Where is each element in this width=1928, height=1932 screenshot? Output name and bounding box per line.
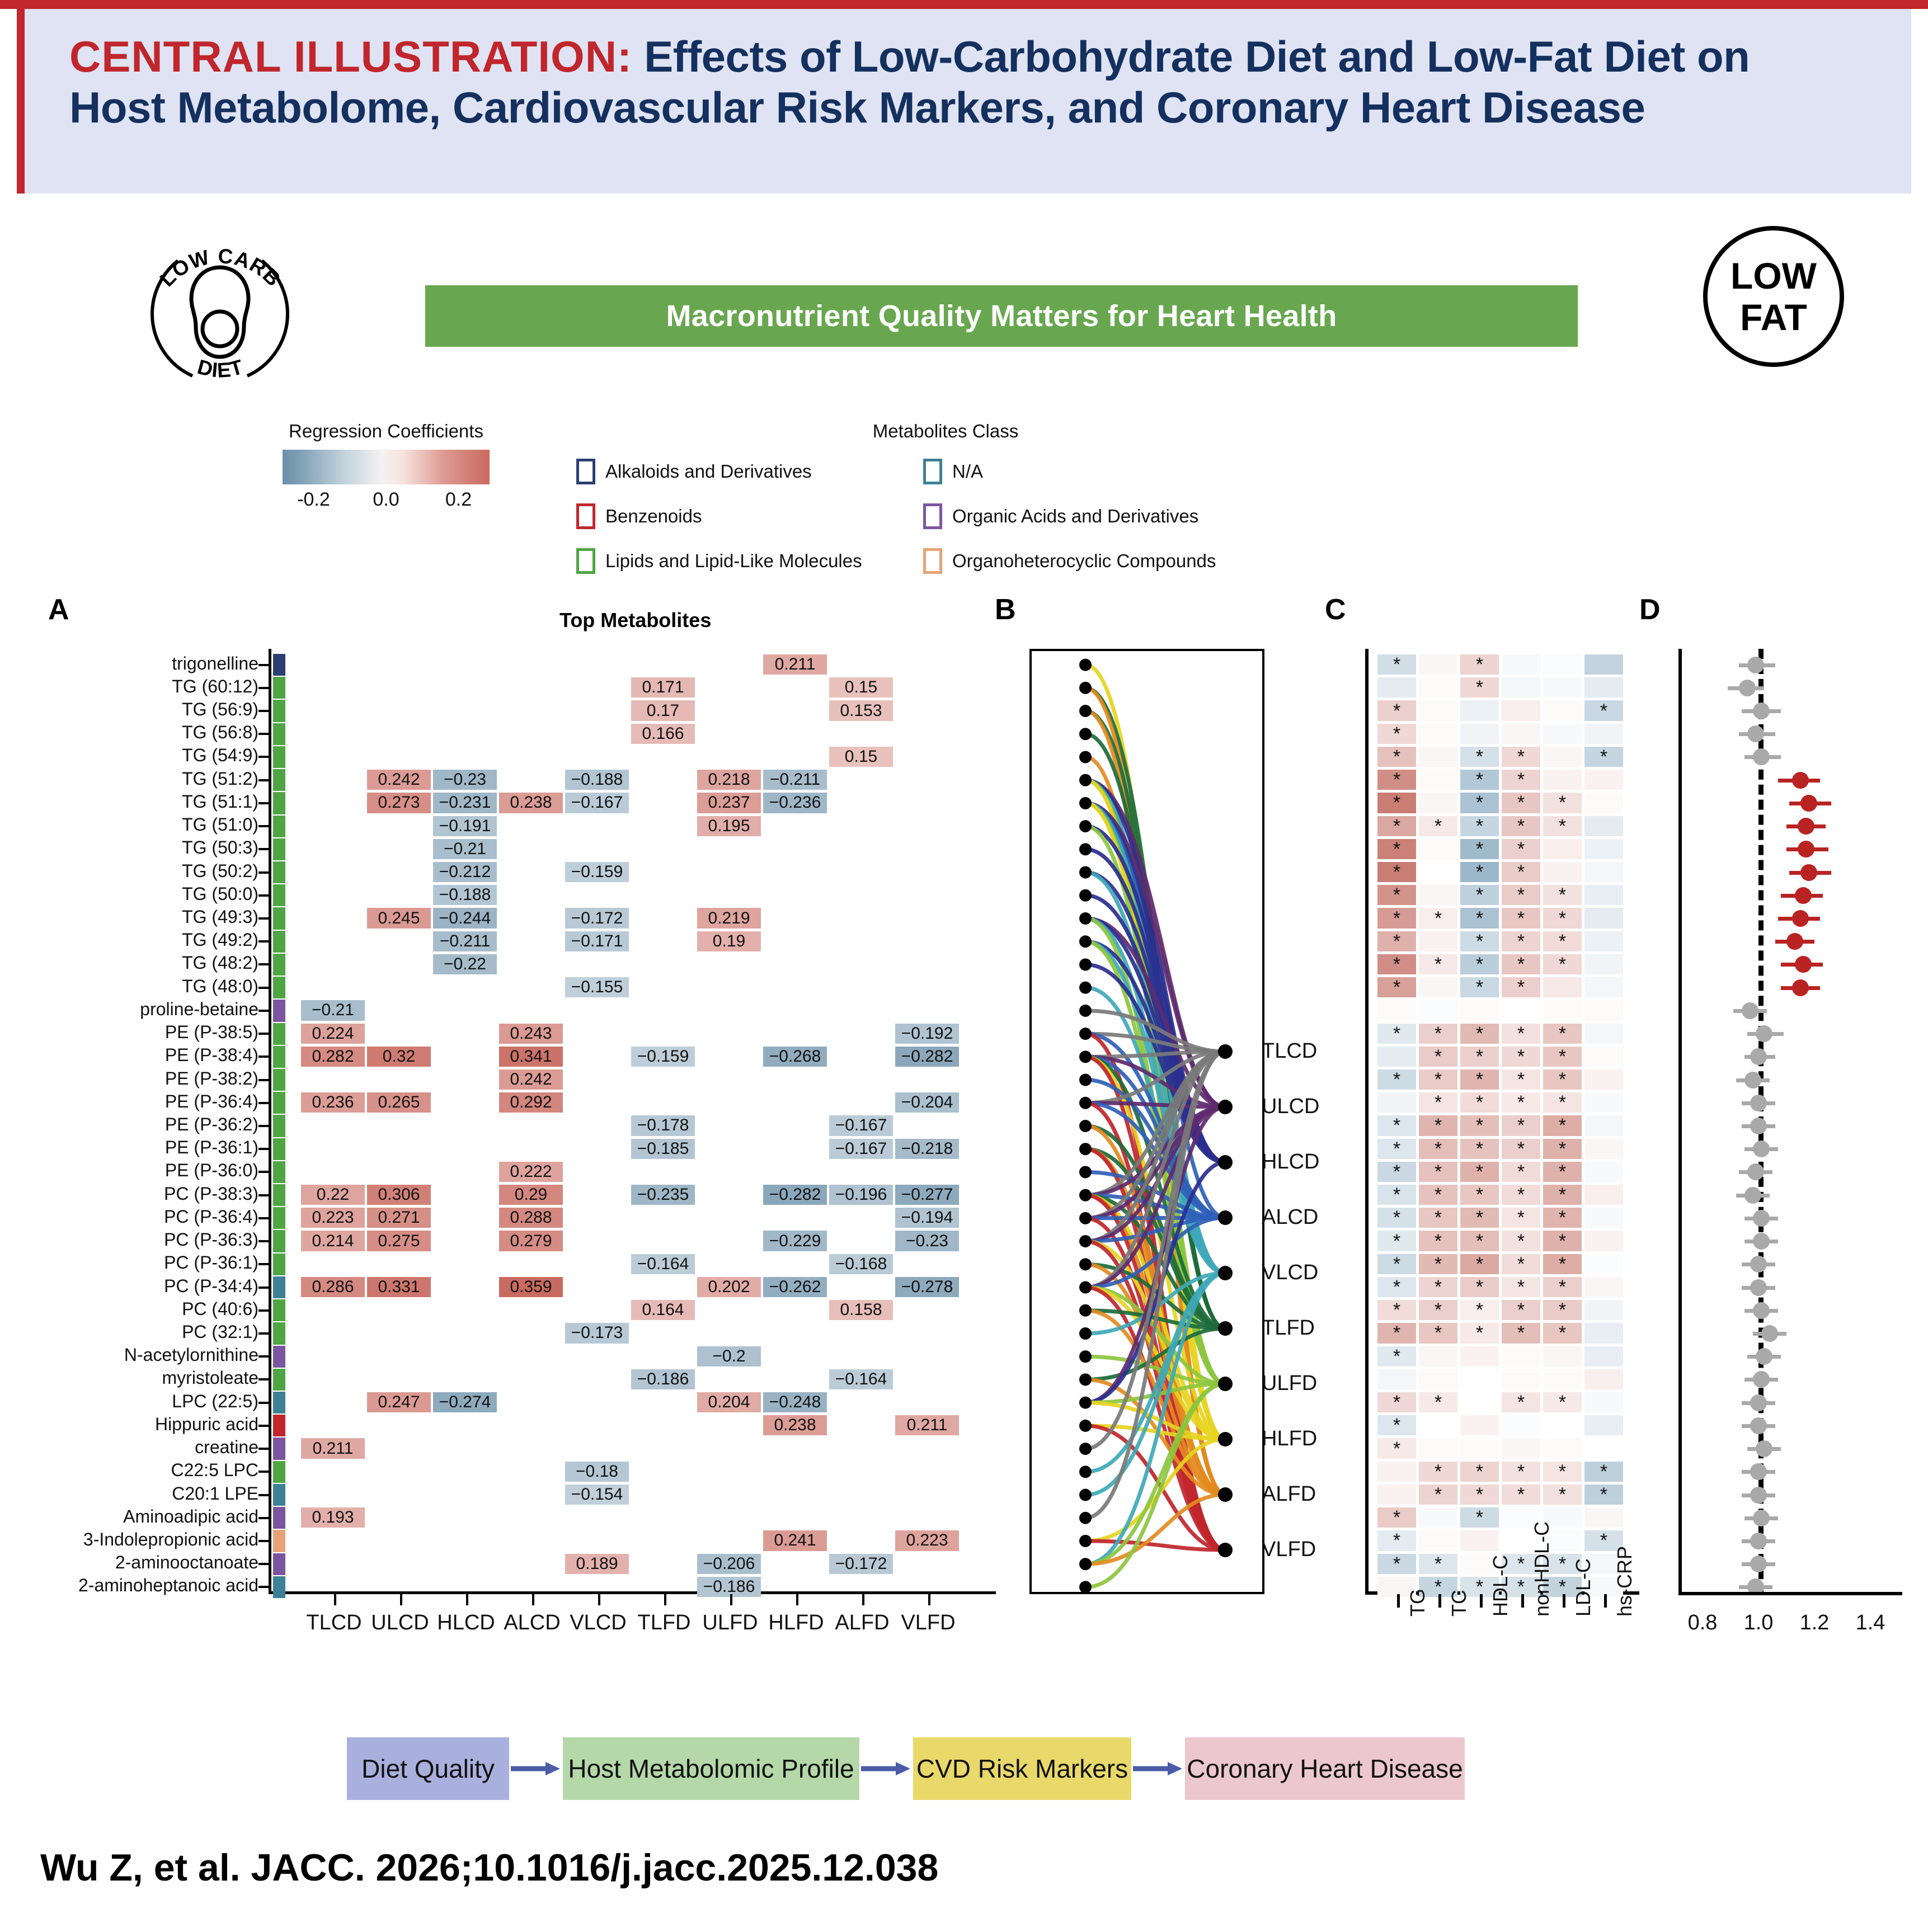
metabolite-node <box>1079 1005 1092 1017</box>
metabolite-node <box>1079 774 1092 786</box>
heatmap-cell: 0.22 <box>301 1185 365 1205</box>
class-legend-item: Alkaloids and Derivatives <box>576 459 923 484</box>
risk-marker-cell: * <box>1502 1047 1540 1067</box>
risk-marker-cell <box>1584 793 1623 813</box>
row-tick <box>258 733 269 735</box>
risk-marker-cell: * <box>1377 1438 1416 1458</box>
page-title: CENTRAL ILLUSTRATION: Effects of Low-Car… <box>69 31 1849 134</box>
risk-marker-cell: * <box>1460 1254 1499 1274</box>
row-tick <box>258 1355 269 1358</box>
risk-marker-cell <box>1419 1000 1457 1020</box>
hazard-ratio-point <box>1750 1556 1767 1572</box>
causal-pathway-flowchart: Diet QualityHost Metabolomic ProfileCVD … <box>347 1737 1650 1800</box>
hazard-ratio-point <box>1753 1371 1770 1388</box>
metabolite-class-bar <box>273 1530 285 1552</box>
column-tick <box>598 1594 600 1605</box>
heatmap-cell: −0.167 <box>829 1139 893 1159</box>
risk-marker-cell: * <box>1377 1392 1416 1412</box>
metabolite-node <box>1079 797 1092 809</box>
regression-coefficient-legend: Regression Coefficients -0.20.00.2 <box>269 421 504 512</box>
central-illustration-figure: CENTRAL ILLUSTRATION: Effects of Low-Car… <box>0 0 1928 1932</box>
heatmap-cell: −0.194 <box>895 1208 959 1228</box>
panel-c-risk-marker-heatmap: ****************************************… <box>1365 649 1639 1594</box>
risk-marker-cell: * <box>1460 885 1499 905</box>
heatmap-cell: −0.277 <box>895 1185 959 1205</box>
risk-marker-cell: * <box>1584 1462 1623 1482</box>
hazard-ratio-point <box>1753 1210 1770 1227</box>
risk-marker-cell <box>1584 1069 1623 1090</box>
risk-marker-cell: * <box>1419 1208 1457 1228</box>
risk-marker-cell: * <box>1460 1115 1499 1135</box>
hazard-ratio-point <box>1756 1440 1772 1457</box>
class-legend-title: Metabolites Class <box>744 421 1147 442</box>
risk-marker-cell: * <box>1377 908 1416 928</box>
metabolite-class-bar <box>273 1092 285 1114</box>
heatmap-cell: 0.241 <box>763 1530 827 1551</box>
hazard-ratio-point <box>1744 1072 1761 1088</box>
risk-column-tick <box>1480 1594 1483 1608</box>
risk-marker-cell: * <box>1460 1092 1499 1113</box>
metabolite-class-bar <box>273 1276 285 1298</box>
risk-marker-cell: * <box>1502 1277 1540 1297</box>
risk-marker-cell <box>1584 1162 1623 1182</box>
risk-marker-cell <box>1584 1000 1623 1020</box>
row-tick <box>258 802 269 804</box>
risk-marker-cell: * <box>1377 977 1416 997</box>
metabolite-label: PE (P-36:1) <box>165 1137 258 1158</box>
metabolite-class-bar <box>273 1576 285 1598</box>
column-tick <box>466 1594 468 1605</box>
heatmap-cell: 0.193 <box>301 1507 365 1528</box>
heatmap-cell: 0.222 <box>499 1162 563 1182</box>
risk-marker-cell <box>1543 1346 1582 1366</box>
heatmap-cell: 0.271 <box>367 1208 431 1228</box>
metabolite-class-bar <box>273 746 285 768</box>
risk-marker-cell: * <box>1377 1507 1416 1528</box>
risk-marker-cell <box>1584 977 1623 997</box>
coefficient-tick: -0.2 <box>297 489 330 511</box>
heatmap-cell: −0.172 <box>565 908 629 928</box>
flow-step: Host Metabolomic Profile <box>563 1737 859 1800</box>
risk-marker-cell: * <box>1419 1024 1457 1044</box>
metabolite-node <box>1079 843 1092 855</box>
hazard-ratio-point <box>1795 956 1812 973</box>
risk-marker-cell: * <box>1543 954 1582 974</box>
risk-marker-cell <box>1419 885 1457 905</box>
risk-marker-cell: * <box>1377 1185 1416 1205</box>
low-fat-line1: LOW <box>1731 255 1817 296</box>
diet-column-label: ULCD <box>371 1611 429 1635</box>
metabolite-node <box>1079 1558 1092 1570</box>
metabolite-label: TG (56:8) <box>182 722 258 743</box>
heatmap-cell: 0.195 <box>697 816 761 836</box>
risk-marker-cell <box>1502 1415 1540 1435</box>
row-tick <box>258 1263 269 1265</box>
banner-macronutrient-quality: Macronutrient Quality Matters for Heart … <box>425 285 1578 347</box>
metabolite-label: PC (P-34:4) <box>164 1276 258 1297</box>
risk-marker-cell <box>1584 931 1623 951</box>
hazard-ratio-point <box>1795 887 1812 904</box>
metabolite-node <box>1079 912 1092 925</box>
risk-marker-cell <box>1419 677 1457 698</box>
risk-marker-cell <box>1584 885 1623 905</box>
diet-node <box>1218 1377 1233 1391</box>
diet-node-label: VLCD <box>1262 1261 1318 1285</box>
row-tick <box>258 756 269 758</box>
risk-marker-cell <box>1584 1323 1623 1343</box>
risk-marker-cell: * <box>1377 654 1416 675</box>
metabolite-node <box>1079 866 1092 879</box>
metabolite-class-bar <box>273 1115 285 1137</box>
row-tick <box>258 987 269 989</box>
risk-marker-cell: * <box>1377 931 1416 951</box>
flow-step: Diet Quality <box>347 1737 509 1800</box>
class-legend-label: Benzenoids <box>605 506 702 527</box>
risk-marker-cell <box>1584 1369 1623 1389</box>
risk-marker-cell: * <box>1377 1554 1416 1574</box>
risk-marker-cell: * <box>1502 839 1540 859</box>
risk-marker-cell: * <box>1377 770 1416 790</box>
metabolite-class-bar <box>273 954 285 976</box>
diet-node-label: HLFD <box>1262 1427 1317 1451</box>
metabolite-label: Aminoadipic acid <box>123 1506 258 1527</box>
risk-marker-cell <box>1584 724 1623 744</box>
metabolite-class-bar <box>273 1553 285 1575</box>
risk-marker-cell <box>1419 1530 1457 1551</box>
risk-marker-cell <box>1584 816 1623 836</box>
risk-marker-cell: * <box>1377 1323 1416 1343</box>
heatmap-cell: 0.236 <box>301 1092 365 1113</box>
heatmap-cell: −0.21 <box>433 839 497 859</box>
risk-marker-label: TC <box>1447 1590 1471 1617</box>
risk-marker-cell <box>1543 770 1582 790</box>
risk-marker-cell <box>1543 1415 1582 1435</box>
risk-marker-cell: * <box>1377 954 1416 974</box>
risk-marker-cell: * <box>1543 908 1582 928</box>
hazard-ratio-point <box>1792 979 1809 996</box>
heatmap-cell: 0.331 <box>367 1277 431 1297</box>
metabolite-label: TG (50:3) <box>182 837 258 858</box>
risk-marker-cell: * <box>1419 1069 1457 1090</box>
hazard-ratio-point <box>1786 933 1803 950</box>
metabolite-label: TG (54:9) <box>182 745 258 766</box>
heatmap-cell: 0.341 <box>499 1047 563 1067</box>
metabolite-label: TG (51:0) <box>182 814 258 835</box>
metabolite-node <box>1079 682 1092 694</box>
risk-marker-cell <box>1543 839 1582 859</box>
risk-marker-cell <box>1543 654 1582 675</box>
metabolite-class-bar <box>273 1461 285 1483</box>
risk-marker-cell <box>1460 724 1499 744</box>
class-legend-items: Alkaloids and DerivativesN/ABenzenoidsOr… <box>576 459 1270 574</box>
risk-marker-cell: * <box>1377 1300 1416 1320</box>
risk-marker-cell: * <box>1419 1300 1457 1320</box>
panel-d-y-axis <box>1678 649 1682 1594</box>
hazard-ratio-point <box>1753 1141 1770 1157</box>
row-tick <box>258 1494 269 1496</box>
risk-marker-cell <box>1502 1438 1540 1458</box>
metabolite-node <box>1079 728 1092 740</box>
metabolite-node <box>1079 958 1092 970</box>
metabolite-node <box>1079 1535 1092 1547</box>
column-tick <box>532 1594 534 1605</box>
row-tick <box>258 710 269 712</box>
banner-text: Macronutrient Quality Matters for Heart … <box>666 299 1337 333</box>
metabolite-class-bar <box>273 1138 285 1160</box>
hazard-ratio-point <box>1750 1417 1767 1434</box>
hazard-ratio-point <box>1753 748 1770 765</box>
row-tick <box>258 1171 269 1173</box>
risk-marker-cell: * <box>1502 862 1540 882</box>
risk-marker-cell <box>1419 1369 1457 1389</box>
risk-marker-cell: * <box>1543 1254 1582 1274</box>
metabolite-node <box>1079 1212 1092 1224</box>
heatmap-cell: −0.23 <box>433 770 497 790</box>
metabolite-class-bar <box>273 1392 285 1413</box>
row-tick <box>258 1378 269 1380</box>
heatmap-cell: −0.167 <box>829 1115 893 1135</box>
diet-column-label: ULFD <box>702 1611 758 1635</box>
heatmap-cell: −0.188 <box>433 885 497 905</box>
risk-marker-cell: * <box>1377 1069 1416 1090</box>
panel-letter-a: A <box>48 593 69 626</box>
diet-node <box>1218 1432 1233 1446</box>
metabolite-class-bar <box>273 792 285 814</box>
heatmap-cell: −0.211 <box>433 931 497 951</box>
metabolite-class-bar <box>273 1254 285 1275</box>
metabolite-label: C20:1 LPE <box>172 1483 258 1504</box>
heatmap-cell: −0.268 <box>763 1047 827 1067</box>
hazard-ratio-point <box>1750 1118 1767 1134</box>
metabolite-label: Hippuric acid <box>155 1414 258 1435</box>
risk-marker-cell: * <box>1377 747 1416 767</box>
heatmap-cell: 0.292 <box>499 1092 563 1113</box>
metabolite-label: 2-aminooctanoate <box>115 1552 258 1573</box>
risk-marker-cell: * <box>1543 1231 1582 1251</box>
metabolite-node <box>1079 751 1092 763</box>
class-swatch <box>923 459 942 484</box>
risk-marker-cell: * <box>1502 770 1540 790</box>
risk-marker-cell: * <box>1460 654 1499 675</box>
metabolite-class-bar <box>273 1000 285 1021</box>
column-tick <box>400 1594 402 1605</box>
metabolite-class-bar <box>273 1069 285 1091</box>
risk-marker-cell: * <box>1419 954 1457 974</box>
metabolite-label: PC (P-38:3) <box>164 1184 258 1204</box>
hazard-ratio-point <box>1750 1048 1767 1065</box>
risk-marker-cell: * <box>1543 1115 1582 1135</box>
heatmap-cell: −0.206 <box>697 1554 761 1574</box>
risk-marker-cell: * <box>1460 1139 1499 1159</box>
risk-marker-label: LDL-C <box>1572 1558 1595 1617</box>
risk-marker-cell: * <box>1460 1323 1499 1343</box>
heatmap-cell: 0.359 <box>499 1277 563 1297</box>
low-fat-line2: FAT <box>1740 296 1807 338</box>
heatmap-cell: −0.21 <box>301 1000 365 1020</box>
metabolite-label: 2-aminoheptanoic acid <box>78 1575 258 1596</box>
risk-marker-cell: * <box>1460 931 1499 951</box>
heatmap-cell: 0.214 <box>301 1231 365 1251</box>
risk-marker-cell <box>1502 724 1540 744</box>
row-tick <box>258 1033 269 1035</box>
row-tick <box>258 1309 269 1312</box>
risk-marker-cell: * <box>1460 793 1499 813</box>
risk-marker-cell: * <box>1460 747 1499 767</box>
class-legend-label: Organoheterocyclic Compounds <box>952 550 1216 572</box>
risk-marker-cell: * <box>1502 954 1540 974</box>
heatmap-cell: −0.211 <box>763 770 827 790</box>
heatmap-cell: 0.211 <box>895 1415 959 1435</box>
risk-marker-cell <box>1543 1438 1582 1458</box>
hazard-ratio-tick: 1.2 <box>1800 1611 1830 1635</box>
heatmap-cell: 0.282 <box>301 1047 365 1067</box>
panel-a-x-labels: TLCDULCDHLCDALCDVLCDTLFDULFDHLFDALFDVLFD <box>269 1611 996 1644</box>
risk-marker-cell: * <box>1419 816 1457 836</box>
risk-marker-cell: * <box>1502 1392 1540 1412</box>
risk-marker-cell: * <box>1419 1554 1457 1574</box>
risk-marker-cell <box>1419 770 1457 790</box>
risk-marker-cell: * <box>1419 1092 1457 1113</box>
metabolite-label: C22:5 LPC <box>171 1460 258 1481</box>
coefficient-scale-ticks: -0.20.00.2 <box>283 489 490 512</box>
metabolite-class-bar <box>273 931 285 953</box>
row-tick <box>258 848 269 850</box>
risk-marker-cell <box>1419 793 1457 813</box>
hazard-ratio-point <box>1800 864 1817 881</box>
heatmap-cell: −0.155 <box>565 977 629 997</box>
heatmap-cell: −0.212 <box>433 862 497 882</box>
metabolite-label: TG (56:9) <box>182 699 258 720</box>
risk-marker-cell: * <box>1377 816 1416 836</box>
risk-marker-cell: * <box>1419 1485 1457 1505</box>
row-tick <box>258 687 269 689</box>
panel-letter-d: D <box>1639 593 1661 626</box>
diet-node <box>1218 1044 1233 1059</box>
panel-a-title: Top Metabolites <box>559 609 711 632</box>
risk-marker-cell <box>1419 839 1457 859</box>
risk-marker-cell: * <box>1543 793 1582 813</box>
heatmap-cell: 0.204 <box>697 1392 761 1412</box>
diet-column-label: TLCD <box>306 1611 361 1635</box>
risk-marker-cell: * <box>1460 839 1499 859</box>
heatmap-cell: 0.29 <box>499 1185 563 1205</box>
heatmap-cell: 0.15 <box>829 677 893 698</box>
hazard-ratio-point <box>1800 795 1817 812</box>
metabolite-class-bar <box>273 1438 285 1459</box>
panel-b-link-diagram <box>1029 649 1264 1594</box>
risk-marker-cell: * <box>1460 1162 1499 1182</box>
risk-marker-cell: * <box>1377 1231 1416 1251</box>
heatmap-cell: −0.185 <box>631 1139 695 1159</box>
risk-marker-cell: * <box>1377 1024 1416 1044</box>
risk-marker-cell: * <box>1543 1462 1582 1482</box>
risk-marker-cell: * <box>1419 1162 1457 1182</box>
metabolite-node <box>1079 935 1092 948</box>
risk-marker-cell: * <box>1377 793 1416 813</box>
metabolite-label: TG (50:0) <box>182 884 258 904</box>
metabolite-class-bar <box>273 700 285 722</box>
risk-marker-cell: * <box>1419 1047 1457 1067</box>
risk-marker-label: hs-CRP <box>1613 1546 1637 1617</box>
risk-marker-cell: * <box>1502 1485 1540 1505</box>
hazard-ratio-point <box>1756 1025 1772 1042</box>
risk-marker-cell: * <box>1460 1277 1499 1297</box>
flow-arrow-icon <box>509 1737 563 1800</box>
panel-d-forest-plot <box>1678 649 1897 1594</box>
heatmap-cell: −0.192 <box>895 1024 959 1044</box>
risk-marker-cell: * <box>1502 1208 1540 1228</box>
risk-marker-cell: * <box>1543 1024 1582 1044</box>
risk-marker-cell <box>1419 1438 1457 1458</box>
row-tick <box>258 917 269 920</box>
metabolite-node <box>1079 1489 1092 1501</box>
panel-letter-c: C <box>1325 593 1346 626</box>
row-tick <box>258 1402 269 1404</box>
hazard-ratio-point <box>1756 1348 1772 1365</box>
risk-marker-cell: * <box>1543 1185 1582 1205</box>
metabolite-class-bar <box>273 1507 285 1529</box>
metabolite-class-legend: Metabolites Class Alkaloids and Derivati… <box>576 421 1270 574</box>
risk-marker-cell <box>1502 1346 1540 1366</box>
metabolite-label: LPC (22:5) <box>172 1391 258 1412</box>
hazard-ratio-point <box>1798 818 1814 835</box>
diet-node-label: ULFD <box>1262 1372 1317 1396</box>
metabolite-node <box>1079 1166 1092 1178</box>
risk-marker-cell: * <box>1584 1485 1623 1505</box>
hazard-ratio-point <box>1750 1533 1767 1549</box>
risk-marker-cell <box>1543 724 1582 744</box>
risk-marker-cell: * <box>1460 977 1499 997</box>
row-tick <box>258 1125 269 1127</box>
diet-node <box>1218 1100 1233 1114</box>
risk-marker-cell: * <box>1543 1092 1582 1113</box>
heatmap-cell: −0.204 <box>895 1092 959 1113</box>
risk-marker-cell: * <box>1502 885 1540 905</box>
risk-marker-cell <box>1419 862 1457 882</box>
title-band: CENTRAL ILLUSTRATION: Effects of Low-Car… <box>17 9 1911 194</box>
metabolite-label: PE (P-38:5) <box>165 1022 258 1043</box>
heatmap-cell: −0.196 <box>829 1185 893 1205</box>
panel-d-x-axis <box>1678 1592 1902 1595</box>
risk-marker-cell <box>1543 1369 1582 1389</box>
class-legend-label: Lipids and Lipid-Like Molecules <box>605 550 862 572</box>
flow-arrow-icon <box>859 1737 913 1800</box>
risk-marker-cell: * <box>1377 1277 1416 1297</box>
class-legend-item: Benzenoids <box>576 503 923 529</box>
diet-column-label: HLCD <box>437 1611 495 1635</box>
risk-marker-cell: * <box>1543 1162 1582 1182</box>
metabolite-node <box>1079 1304 1092 1317</box>
heatmap-cell: −0.18 <box>565 1462 629 1482</box>
metabolite-node <box>1079 820 1092 832</box>
risk-marker-cell <box>1502 654 1540 675</box>
risk-marker-cell <box>1543 677 1582 698</box>
row-tick <box>258 825 269 827</box>
heatmap-cell: 0.17 <box>631 700 695 720</box>
risk-marker-cell: * <box>1502 1092 1540 1113</box>
heatmap-cell: 0.32 <box>367 1047 431 1067</box>
class-legend-label: N/A <box>952 461 983 482</box>
risk-marker-cell: * <box>1502 1323 1540 1343</box>
row-tick <box>258 1517 269 1519</box>
metabolite-node <box>1079 1074 1092 1086</box>
risk-marker-cell <box>1460 700 1499 720</box>
row-tick <box>258 871 269 874</box>
row-tick <box>258 1563 269 1565</box>
heatmap-cell: 0.275 <box>367 1231 431 1251</box>
diet-column-label: ALCD <box>504 1611 560 1635</box>
diet-node <box>1218 1210 1233 1225</box>
